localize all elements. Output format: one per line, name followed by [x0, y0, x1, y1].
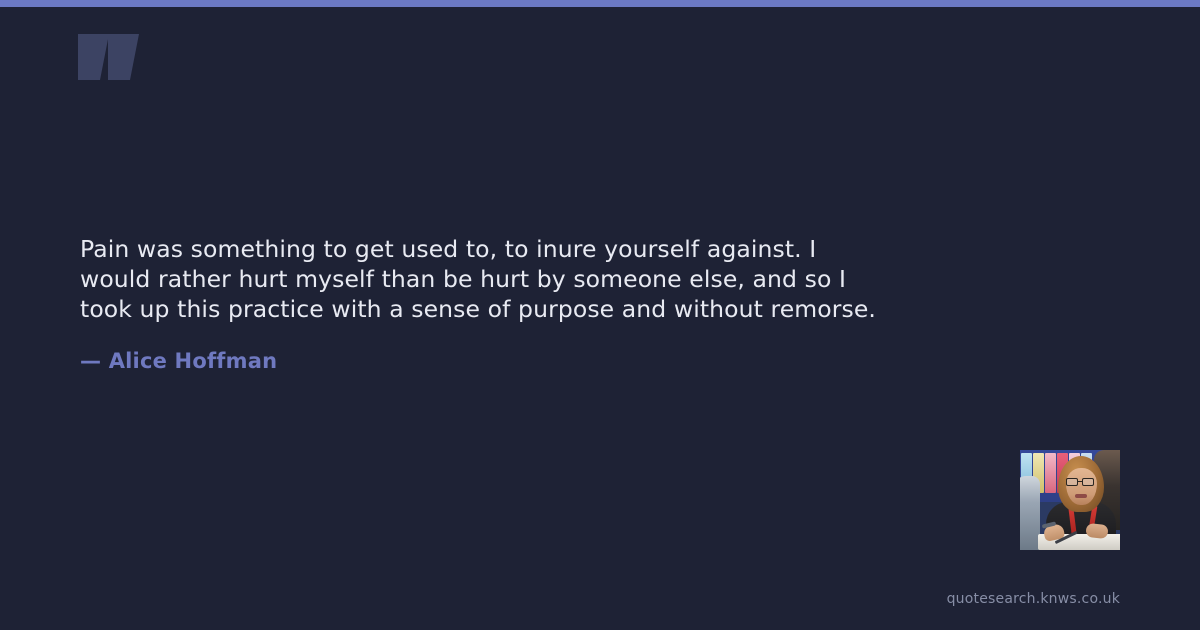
- quote-mark-slab-right: [108, 34, 130, 80]
- quote-mark-slab-left: [78, 34, 100, 80]
- attribution-text: — Alice Hoffman: [80, 349, 277, 373]
- photo-background-person-left: [1020, 476, 1040, 550]
- photo-subject-mouth: [1075, 494, 1087, 498]
- opening-quote-mark-icon: [78, 28, 138, 90]
- quote-card: Pain was something to get used to, to in…: [0, 0, 1200, 630]
- site-url-footer: quotesearch.knws.co.uk: [947, 591, 1120, 607]
- glasses-lens-left: [1066, 478, 1078, 486]
- quote-text: Pain was something to get used to, to in…: [80, 234, 1020, 324]
- photo-subject-hand-right: [1085, 523, 1108, 539]
- author-photo-thumbnail: [1020, 450, 1120, 550]
- photo-subject-glasses: [1065, 478, 1097, 486]
- photo-book-cover: [1045, 453, 1056, 493]
- glasses-lens-right: [1082, 478, 1094, 486]
- quote-block: Pain was something to get used to, to in…: [80, 234, 1020, 324]
- author-photo-scene: [1020, 450, 1120, 550]
- quote-attribution: — Alice Hoffman: [80, 349, 277, 373]
- top-accent-bar: [0, 0, 1200, 7]
